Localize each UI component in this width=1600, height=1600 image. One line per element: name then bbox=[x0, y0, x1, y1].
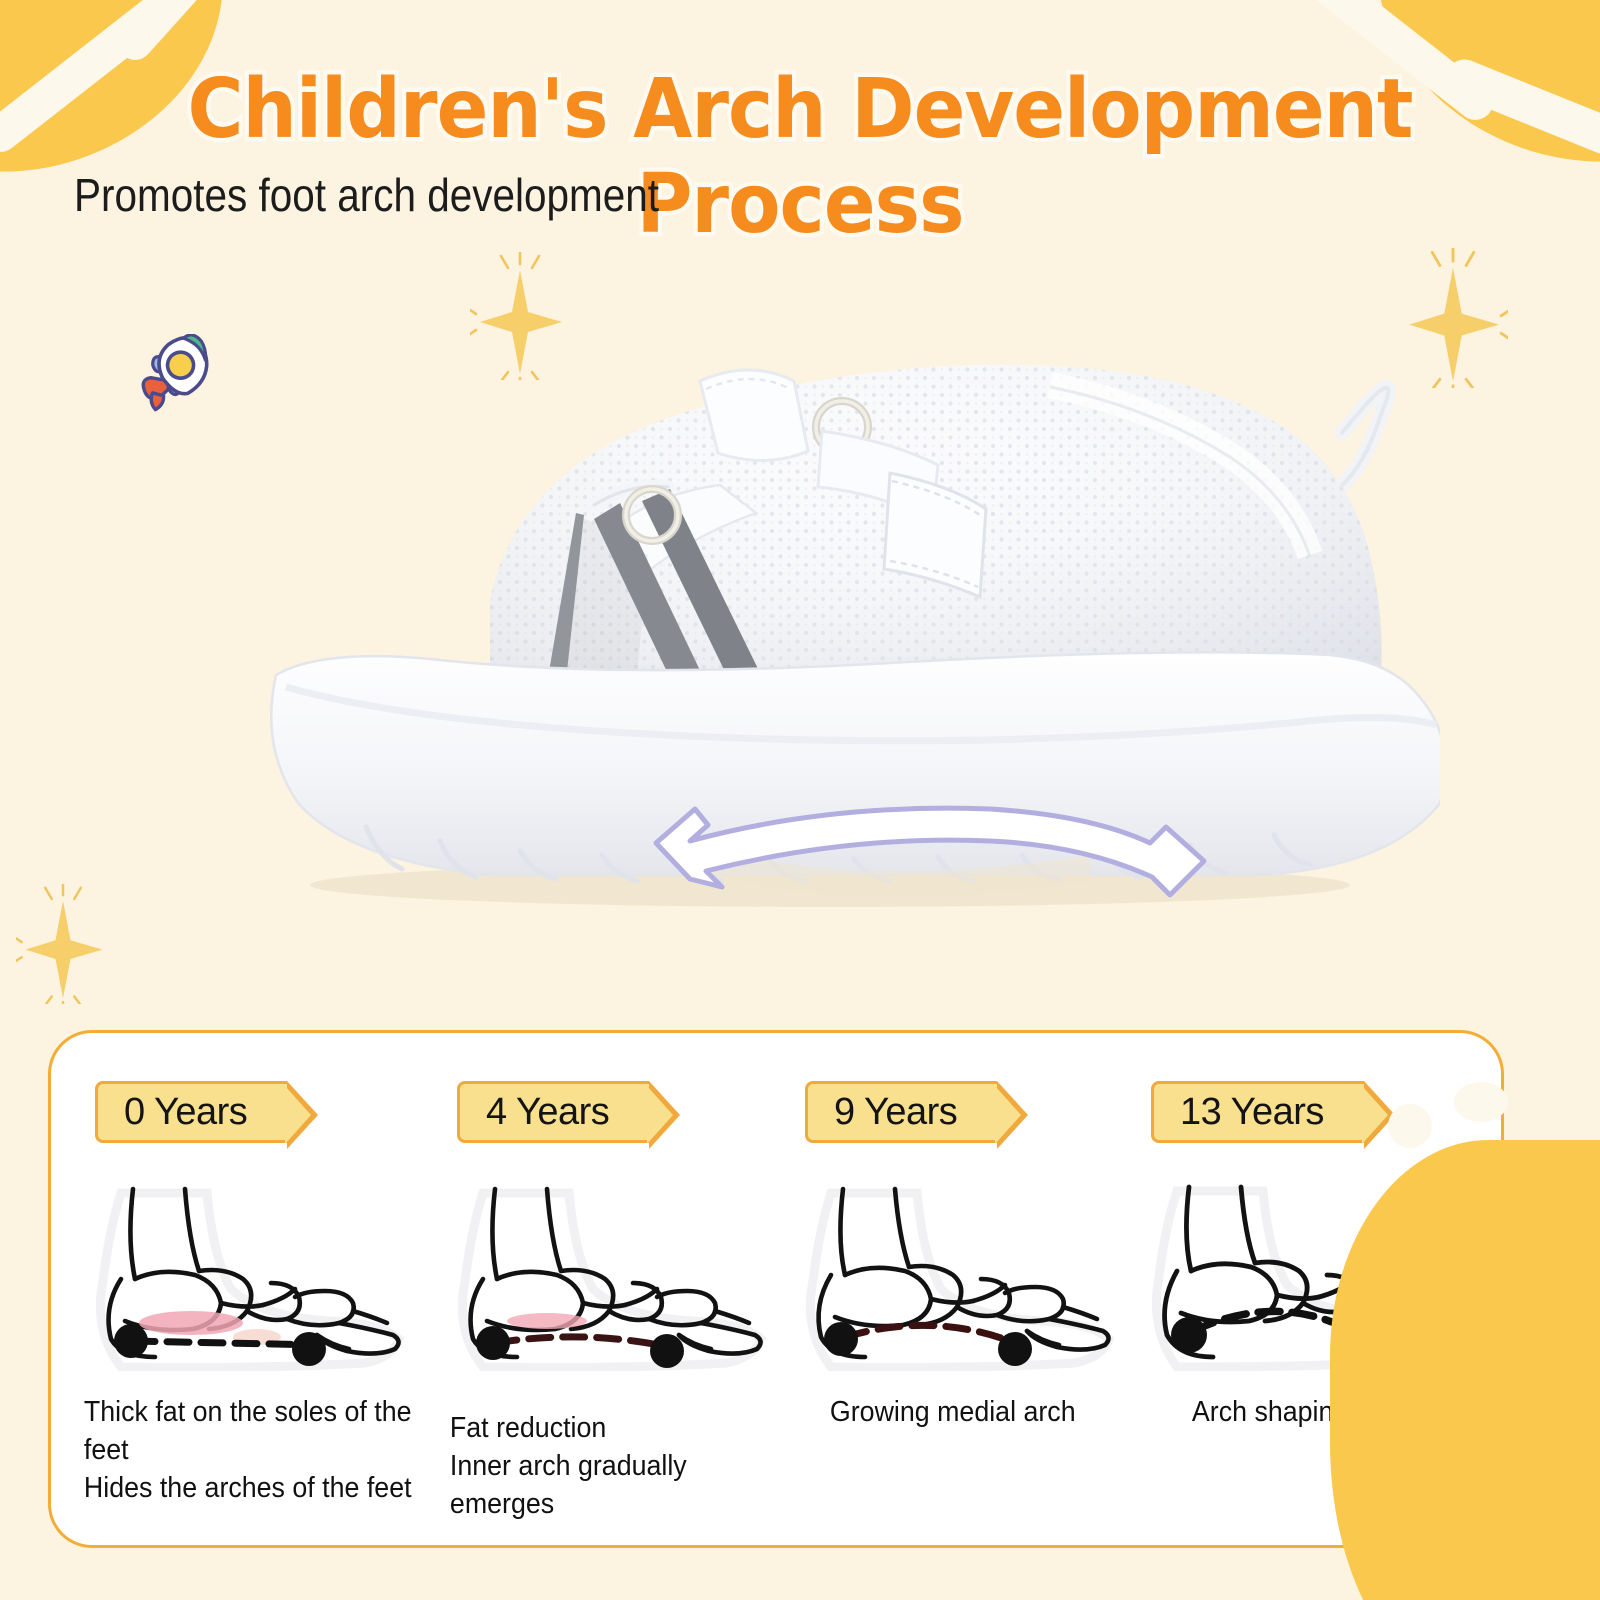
foot-diagram-9-years bbox=[791, 1171, 1121, 1376]
foot-diagram-4-years bbox=[443, 1171, 773, 1376]
page-title: Children's Arch Development Process bbox=[56, 62, 1544, 252]
infographic-root: Children's Arch Development Process Prom… bbox=[0, 0, 1600, 1600]
arch-development-panel: 0 Years bbox=[48, 1030, 1504, 1548]
age-tag-wrapper-0: 0 Years bbox=[95, 1081, 287, 1143]
stage-0-years: 0 Years bbox=[67, 1033, 431, 1545]
stage-list: 0 Years bbox=[51, 1033, 1501, 1545]
blob-dot-1 bbox=[1388, 1104, 1432, 1148]
product-photo-sneaker bbox=[190, 255, 1440, 915]
age-tag-wrapper-1: 4 Years bbox=[457, 1081, 649, 1143]
age-tag-0: 0 Years bbox=[95, 1081, 287, 1143]
age-tag-1: 4 Years bbox=[457, 1081, 649, 1143]
age-tag-wrapper-3: 13 Years bbox=[1151, 1081, 1364, 1143]
stage-caption-1: Fat reductionInner arch gradually emerge… bbox=[450, 1409, 792, 1524]
stage-9-years: 9 Years bbox=[777, 1033, 1141, 1545]
stage-caption-0: Thick fat on the soles of the feetHides … bbox=[84, 1393, 426, 1508]
stage-4-years: 4 Years bbox=[429, 1033, 793, 1545]
page-subtitle: Promotes foot arch development bbox=[74, 168, 659, 222]
blob-dot-2 bbox=[1454, 1082, 1508, 1122]
age-tag-2: 9 Years bbox=[805, 1081, 997, 1143]
age-tag-wrapper-2: 9 Years bbox=[805, 1081, 997, 1143]
sparkle-icon bbox=[16, 884, 110, 1009]
age-tag-3: 13 Years bbox=[1151, 1081, 1364, 1143]
foot-diagram-0-years bbox=[81, 1171, 411, 1376]
brush-stroke-top-left-2 bbox=[111, 0, 217, 67]
stage-caption-2: Growing medial arch bbox=[830, 1393, 1172, 1431]
